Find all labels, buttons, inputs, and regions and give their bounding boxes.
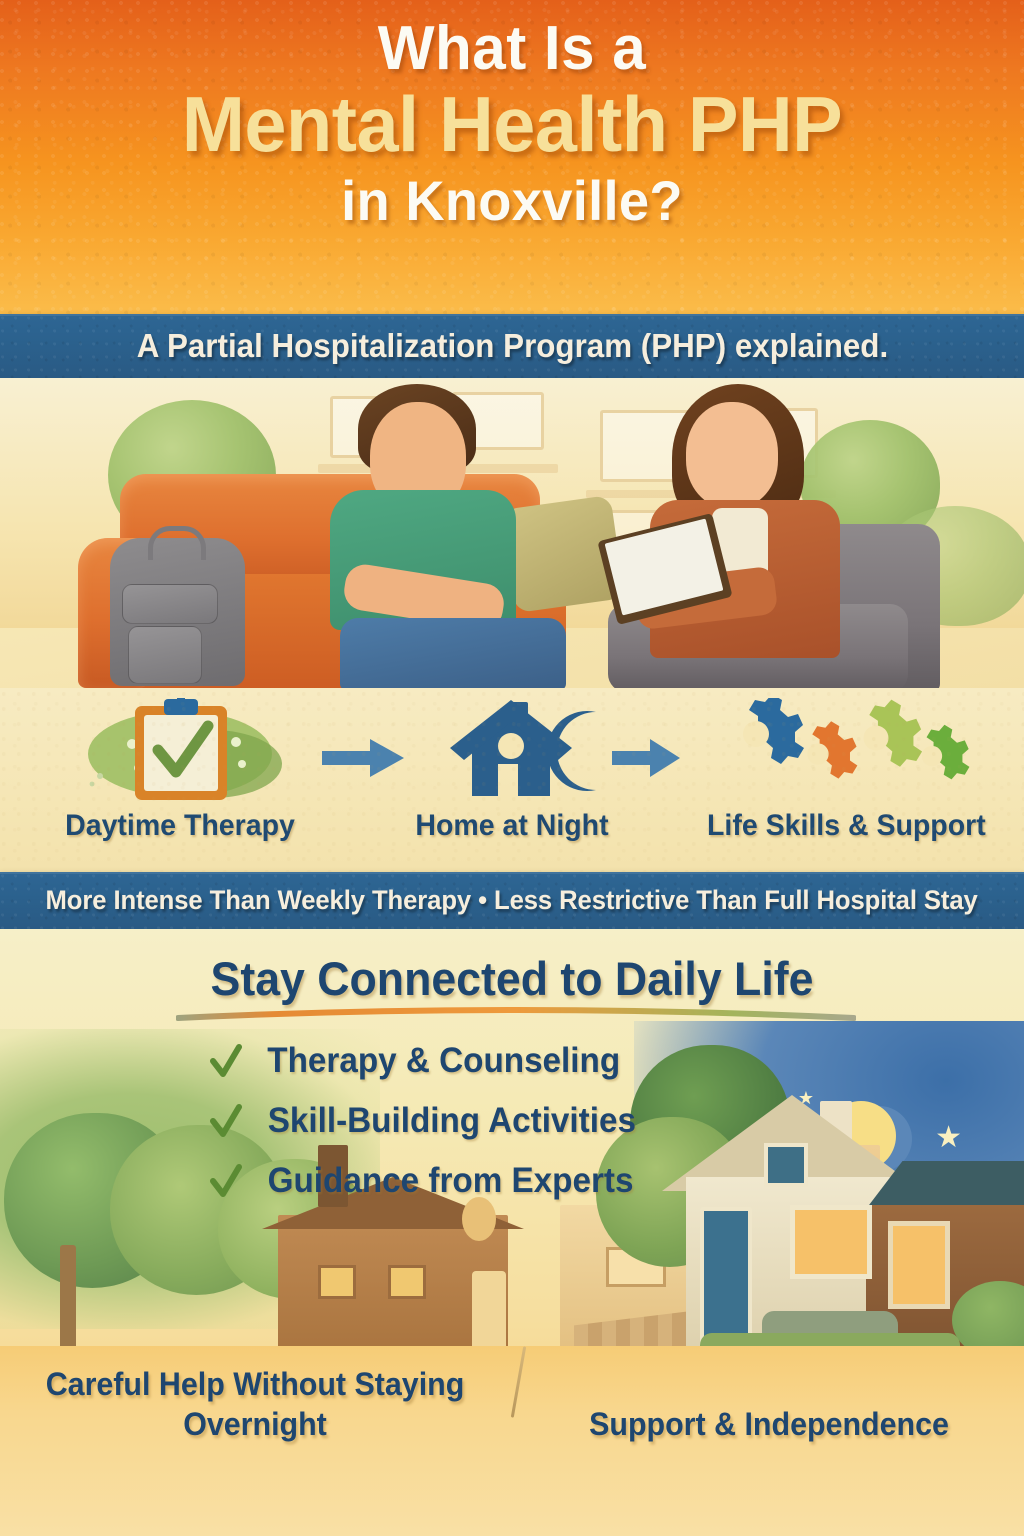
step-daytime-therapy: Daytime Therapy xyxy=(40,698,320,843)
section-title: Stay Connected to Daily Life xyxy=(26,951,999,1006)
therapy-scene-illustration xyxy=(0,378,1024,688)
header-section: What Is a Mental Health PHP in Knoxville… xyxy=(0,0,1024,314)
benefits-checklist: Therapy & Counseling Skill-Building Acti… xyxy=(210,1041,646,1221)
list-item-label: Skill-Building Activities xyxy=(268,1101,636,1141)
home-side-window-lit xyxy=(888,1221,950,1309)
list-item-label: Guidance from Experts xyxy=(268,1161,634,1201)
footer-caption-right: Support & Independence xyxy=(555,1404,983,1444)
step-caption: Home at Night xyxy=(379,809,645,843)
gears-icon xyxy=(700,698,980,803)
title-line-1: What Is a xyxy=(15,18,1008,80)
list-item: Skill-Building Activities xyxy=(210,1101,646,1141)
step-life-skills-support: Life Skills & Support xyxy=(700,698,980,843)
house-door xyxy=(472,1271,506,1355)
process-steps-row: Daytime Therapy Home a xyxy=(0,688,1024,872)
list-item: Guidance from Experts xyxy=(210,1161,646,1201)
infographic-poster: What Is a Mental Health PHP in Knoxville… xyxy=(0,0,1024,1536)
tree-trunk xyxy=(60,1245,76,1353)
check-icon xyxy=(210,1163,242,1199)
home-window-lit xyxy=(790,1205,872,1279)
check-icon xyxy=(210,1103,242,1139)
window-lit xyxy=(318,1265,356,1299)
person-legs xyxy=(340,618,566,688)
comparison-text: More Intense Than Weekly Therapy • Less … xyxy=(46,885,978,916)
title-line-2: Mental Health PHP xyxy=(15,82,1008,166)
bottom-section: ★ ★ ★ ★ ★ ★ xyxy=(0,929,1024,1536)
decorative-divider xyxy=(176,1005,856,1023)
backpack-pocket xyxy=(128,626,202,684)
title-line-3: in Knoxville? xyxy=(15,170,1008,232)
subtitle-band: A Partial Hospitalization Program (PHP) … xyxy=(0,314,1024,378)
backpack-pocket xyxy=(122,584,218,624)
backpack-strap xyxy=(148,526,206,560)
clipboard-check-icon xyxy=(40,698,320,803)
list-item-label: Therapy & Counseling xyxy=(267,1041,620,1081)
check-icon xyxy=(210,1043,242,1079)
title-block: What Is a Mental Health PHP in Knoxville… xyxy=(0,0,1024,232)
comparison-band: More Intense Than Weekly Therapy • Less … xyxy=(0,872,1024,929)
step-caption: Life Skills & Support xyxy=(707,809,973,843)
step-caption: Daytime Therapy xyxy=(47,809,313,843)
therapist-head xyxy=(686,402,778,508)
subtitle-text: A Partial Hospitalization Program (PHP) … xyxy=(136,327,887,365)
list-item: Therapy & Counseling xyxy=(210,1041,646,1081)
window-lit xyxy=(388,1265,426,1299)
footer-caption-left: Careful Help Without Staying Overnight xyxy=(41,1364,469,1444)
right-arrow-icon xyxy=(610,736,682,780)
star-icon: ★ xyxy=(935,1123,962,1153)
home-attic-window xyxy=(764,1143,808,1187)
